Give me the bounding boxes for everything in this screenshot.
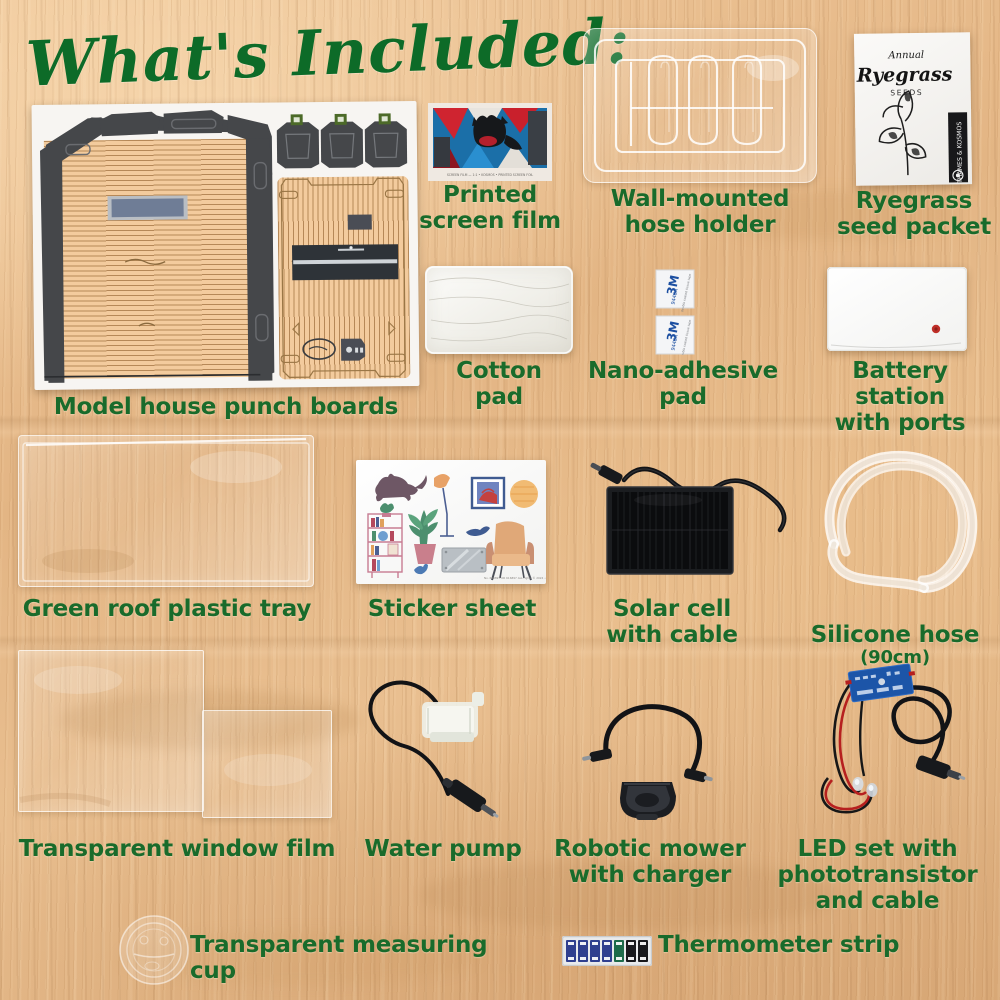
svg-text:SCREEN FILM — 1:1 • KOSMOS • P: SCREEN FILM — 1:1 • KOSMOS • PRINTED SCR…	[447, 173, 534, 177]
water-pump	[360, 668, 528, 828]
seed-packet-artwork: Annual Ryegrass SEEDS THAMES & KOSMOS	[854, 32, 972, 186]
solar-cell-with-cable	[580, 450, 790, 590]
svg-text:Ryegrass: Ryegrass	[856, 63, 953, 86]
window-film-highlights	[18, 650, 334, 820]
cotton-pad	[425, 266, 573, 354]
water-pump-graphic	[360, 668, 528, 828]
ryegrass-seed-packet: Annual Ryegrass SEEDS THAMES & KOSMOS	[854, 32, 972, 186]
label-sticker-sheet: Sticker sheet	[356, 596, 548, 622]
label-nano-adhesive-pad: Nano-adhesive pad	[578, 358, 788, 410]
label-solar-cell: Solar cell with cable	[592, 596, 752, 648]
thermometer-strip	[562, 936, 652, 966]
transparent-window-film	[18, 650, 334, 820]
svg-text:No. 616897 OR 616897 ALL rig: No. 616897 OR 616897 ALL rights © 2024 •…	[484, 576, 546, 580]
silicone-hose-name: Silicone hose	[811, 622, 980, 648]
solar-cell-graphic	[580, 450, 790, 590]
sticker-sheet: No. 616897 OR 616897 ALL rights © 2024 •…	[356, 460, 546, 584]
label-robotic-mower: Robotic mower with charger	[550, 836, 750, 888]
label-model-house-punch-boards: Model house punch boards	[33, 394, 419, 420]
sticker-sheet-artwork: No. 616897 OR 616897 ALL rights © 2024 •…	[356, 460, 546, 584]
nano-adhesive-pad: 3M 9448A double coated tissue tape 3M 94…	[655, 269, 713, 355]
robotic-mower-graphic	[578, 690, 724, 824]
green-roof-plastic-tray	[18, 435, 314, 587]
adhesive-pad-squares: 3M 9448A double coated tissue tape 3M 94…	[655, 269, 713, 355]
punch-board-clip-pieces	[275, 113, 412, 170]
label-transparent-measuring-cup: Transparent measuring cup	[190, 932, 530, 984]
svg-text:Annual: Annual	[887, 50, 924, 62]
deck-panel-details	[277, 176, 410, 379]
battery-station-details	[827, 267, 967, 351]
wall-mounted-hose-holder	[583, 28, 817, 183]
label-printed-screen-film: Printed screen film	[410, 182, 570, 234]
robotic-mower-with-charger	[578, 690, 724, 824]
green-roof-tray-edges	[18, 435, 314, 587]
printed-screen-film: SCREEN FILM — 1:1 • KOSMOS • PRINTED SCR…	[428, 103, 552, 181]
label-led-set: LED set with phototransistor and cable	[765, 836, 990, 915]
measuring-cup-graphic	[118, 914, 190, 986]
silicone-hose	[812, 448, 988, 594]
transparent-measuring-cup	[118, 914, 190, 986]
battery-station-with-ports	[827, 267, 967, 351]
label-wall-mounted-hose-holder: Wall-mounted hose holder	[588, 186, 812, 238]
led-set-graphic	[790, 650, 990, 830]
label-battery-station: Battery station with ports	[805, 358, 995, 437]
cotton-pad-texture	[425, 266, 573, 354]
label-water-pump: Water pump	[358, 836, 528, 862]
model-house-punch-boards	[32, 101, 420, 390]
label-transparent-window-film: Transparent window film	[10, 836, 344, 862]
page-title: What's Included:	[25, 4, 632, 100]
label-cotton-pad: Cotton pad	[420, 358, 578, 410]
label-ryegrass-seed-packet: Ryegrass seed packet	[828, 188, 1000, 240]
kit-contents-poster: What's Included:	[0, 0, 1000, 1000]
label-thermometer-strip: Thermometer strip	[658, 932, 958, 958]
label-green-roof-plastic-tray: Green roof plastic tray	[12, 596, 322, 622]
silicone-hose-graphic	[812, 448, 988, 594]
thermometer-strip-graphic	[562, 936, 652, 966]
hose-holder-channels	[583, 28, 817, 183]
led-set	[790, 650, 990, 830]
